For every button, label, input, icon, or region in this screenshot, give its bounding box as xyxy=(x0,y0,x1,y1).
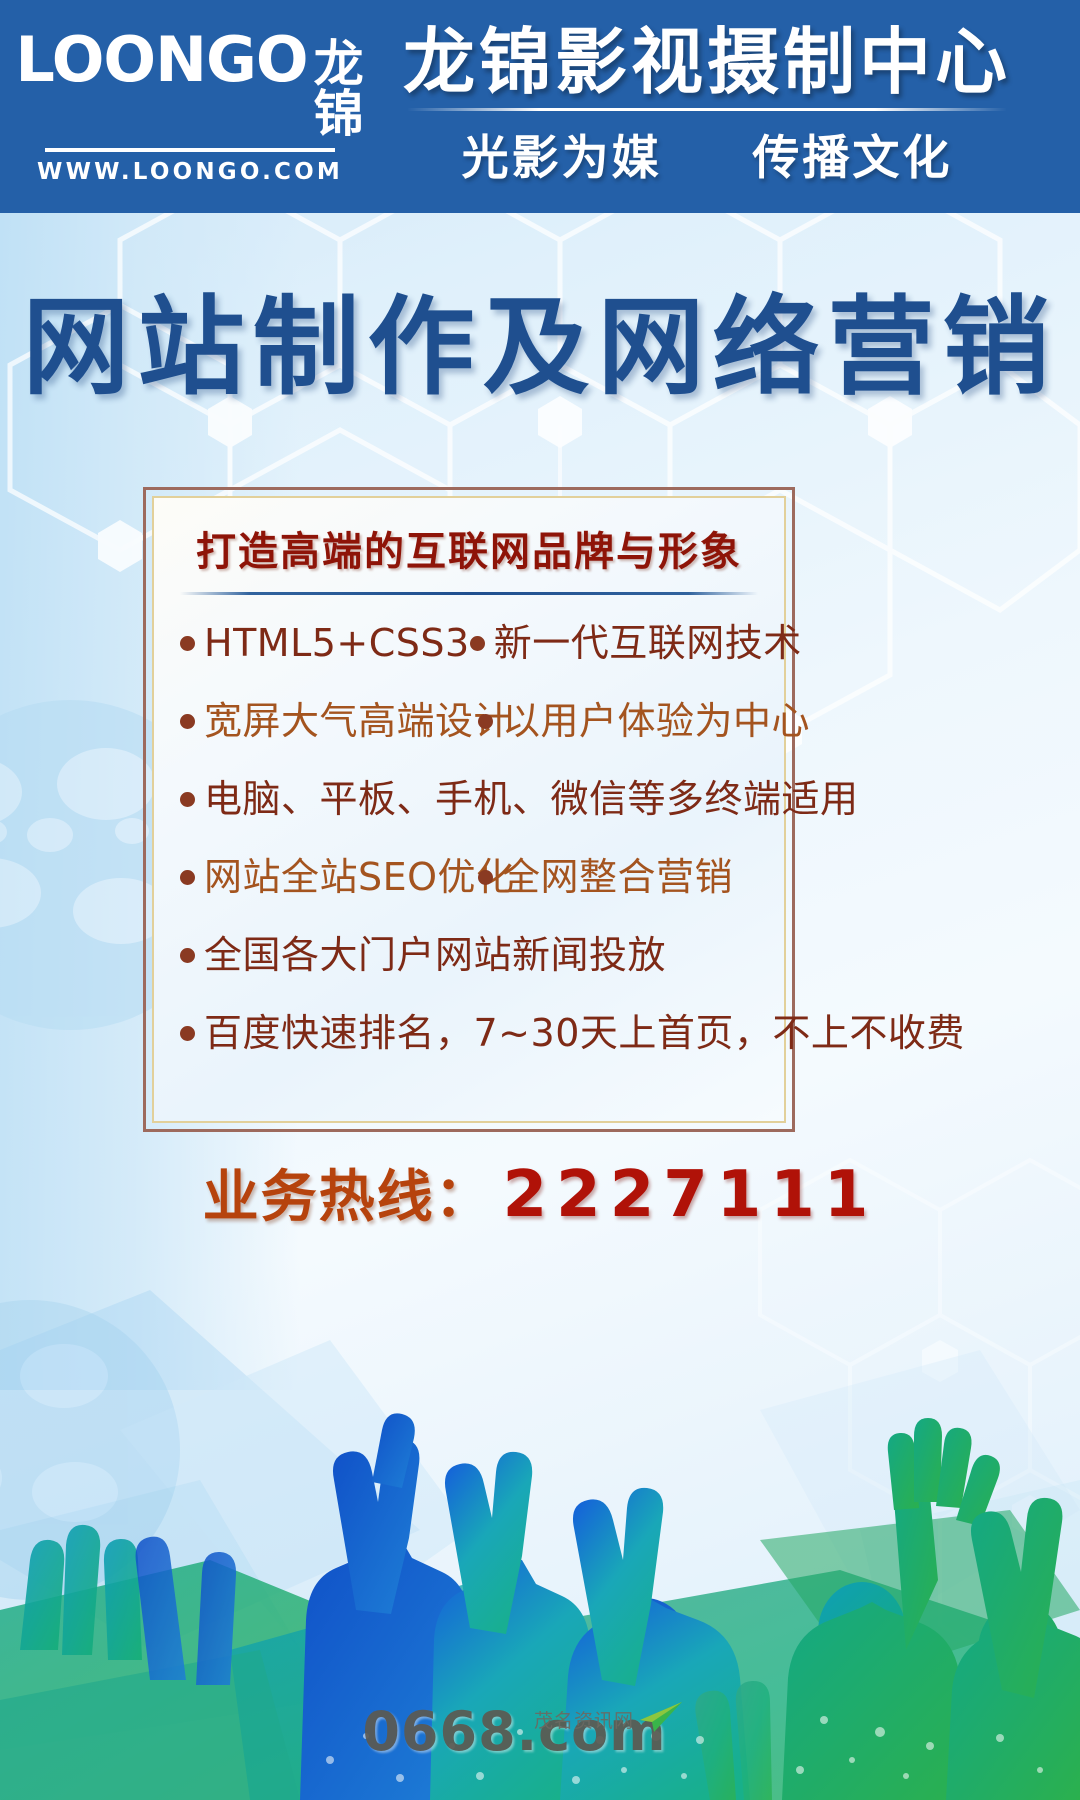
bullet-dot-icon xyxy=(180,870,195,885)
feature-label: 新一代互联网技术 xyxy=(494,624,802,662)
company-name-title: 龙锦影视摄制中心 xyxy=(403,25,1011,101)
feature-item: HTML5+CSS3 xyxy=(180,624,470,662)
list-item: 全国各大门户网站新闻投放 xyxy=(180,919,758,991)
service-feature-list: HTML5+CSS3 新一代互联网技术 宽屏大气高端设计 以用户体验为中心 xyxy=(180,607,758,1069)
site-watermark: 0668.com 茂名资讯网 xyxy=(0,1700,1080,1763)
feature-item: 百度快速排名，7~30天上首页，不上不收费 xyxy=(180,1014,965,1052)
feature-label: 宽屏大气高端设计 xyxy=(204,702,512,740)
bullet-dot-icon xyxy=(470,636,485,651)
feature-label: 百度快速排名，7~30天上首页，不上不收费 xyxy=(204,1014,965,1052)
header-title-block: 龙锦影视摄制中心 光影为媒 传播文化 xyxy=(352,25,1080,188)
service-panel-inner: 打造高端的互联网品牌与形象 HTML5+CSS3 新一代互联网技术 xyxy=(152,496,786,1123)
service-panel: 打造高端的互联网品牌与形象 HTML5+CSS3 新一代互联网技术 xyxy=(143,487,795,1132)
logo-divider xyxy=(45,148,335,152)
slogan-right: 传播文化 xyxy=(752,131,952,186)
bullet-dot-icon xyxy=(180,636,195,651)
feature-item: 电脑、平板、手机、微信等多终端适用 xyxy=(180,780,859,818)
bullet-dot-icon xyxy=(180,1026,195,1041)
feature-item: 全网整合营销 xyxy=(478,858,733,896)
poster-canvas: LOONGO 龙锦 WWW.LOONGO.COM 龙锦影视摄制中心 光影为媒 传… xyxy=(0,0,1080,1800)
bullet-dot-icon xyxy=(478,870,493,885)
feature-label: HTML5+CSS3 xyxy=(204,624,470,662)
slogan-left: 光影为媒 xyxy=(462,131,662,186)
logo-website-url: WWW.LOONGO.COM xyxy=(37,159,343,185)
feature-item: 新一代互联网技术 xyxy=(470,624,802,662)
logo-wordmark: LOONGO 龙锦 xyxy=(15,29,364,139)
feature-label: 电脑、平板、手机、微信等多终端适用 xyxy=(204,780,859,818)
list-item: HTML5+CSS3 新一代互联网技术 xyxy=(180,607,758,679)
paper-plane-icon xyxy=(638,1700,684,1734)
panel-heading-divider xyxy=(180,592,758,595)
feature-label: 以用户体验为中心 xyxy=(502,702,810,740)
bullet-dot-icon xyxy=(180,792,195,807)
list-item: 电脑、平板、手机、微信等多终端适用 xyxy=(180,763,758,835)
list-item: 百度快速排名，7~30天上首页，不上不收费 xyxy=(180,997,758,1069)
list-item: 网站全站SEO优化 全网整合营销 xyxy=(180,841,758,913)
header-band: LOONGO 龙锦 WWW.LOONGO.COM 龙锦影视摄制中心 光影为媒 传… xyxy=(0,0,1080,213)
feature-item: 全国各大门户网站新闻投放 xyxy=(180,936,666,974)
feature-label: 全国各大门户网站新闻投放 xyxy=(204,936,666,974)
bullet-dot-icon xyxy=(478,714,493,729)
panel-heading: 打造高端的互联网品牌与形象 xyxy=(180,530,758,574)
list-item: 宽屏大气高端设计 以用户体验为中心 xyxy=(180,685,758,757)
logo-latin-text: LOONGO xyxy=(15,29,307,91)
feature-item: 以用户体验为中心 xyxy=(478,702,810,740)
watermark-chinese-text: 茂名资讯网 xyxy=(534,1706,634,1733)
header-divider xyxy=(407,108,1007,111)
page-title: 网站制作及网络营销 xyxy=(0,295,1080,402)
feature-item: 宽屏大气高端设计 xyxy=(180,702,478,740)
company-slogan: 光影为媒 传播文化 xyxy=(462,119,953,188)
feature-label: 全网整合营销 xyxy=(502,858,733,896)
feature-label: 网站全站SEO优化 xyxy=(204,858,515,896)
bullet-dot-icon xyxy=(180,948,195,963)
company-logo: LOONGO 龙锦 WWW.LOONGO.COM xyxy=(0,29,352,185)
feature-item: 网站全站SEO优化 xyxy=(180,858,478,896)
bullet-dot-icon xyxy=(180,714,195,729)
